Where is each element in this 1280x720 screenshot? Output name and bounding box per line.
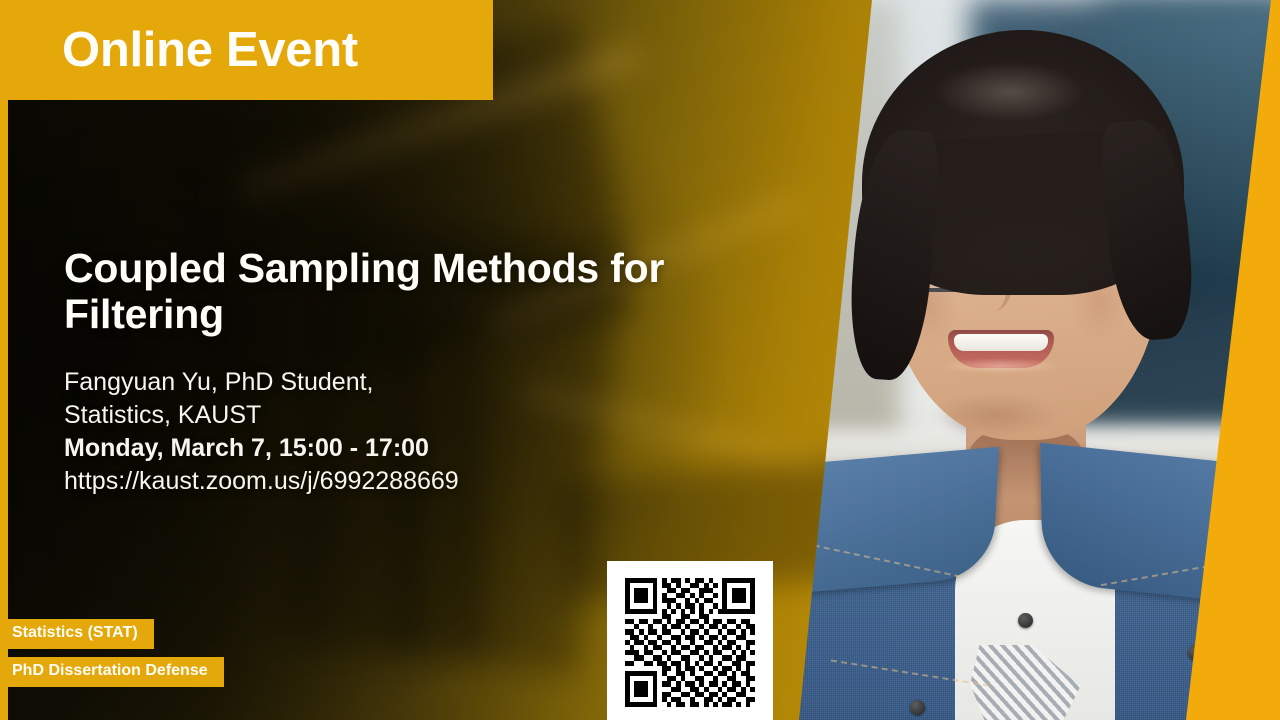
online-event-banner: Online Event <box>0 0 493 100</box>
jacket-button <box>1018 613 1033 628</box>
qr-code-container[interactable] <box>607 561 773 720</box>
jacket-button <box>910 700 925 715</box>
speaker-name: Fangyuan Yu, PhD Student, <box>64 366 764 399</box>
banner-label: Online Event <box>62 26 358 75</box>
event-poster: Online Event Coupled Sampling Methods fo… <box>0 0 1280 720</box>
speaker-affiliation: Statistics, KAUST <box>64 399 764 432</box>
event-meta: Fangyuan Yu, PhD Student, Statistics, KA… <box>64 366 764 498</box>
qr-code[interactable] <box>625 578 755 708</box>
left-gold-edge <box>0 0 8 720</box>
tag-event-type[interactable]: PhD Dissertation Defense <box>0 657 224 687</box>
event-link[interactable]: https://kaust.zoom.us/j/6992288669 <box>64 465 764 498</box>
tag-row: Statistics (STAT) <box>0 619 224 649</box>
event-datetime: Monday, March 7, 15:00 - 17:00 <box>64 432 764 465</box>
tag-list: Statistics (STAT) PhD Dissertation Defen… <box>0 619 224 695</box>
event-title: Coupled Sampling Methods for Filtering <box>64 246 754 338</box>
tag-row: PhD Dissertation Defense <box>0 657 224 687</box>
event-details: Coupled Sampling Methods for Filtering F… <box>64 246 764 498</box>
tag-department[interactable]: Statistics (STAT) <box>0 619 154 649</box>
